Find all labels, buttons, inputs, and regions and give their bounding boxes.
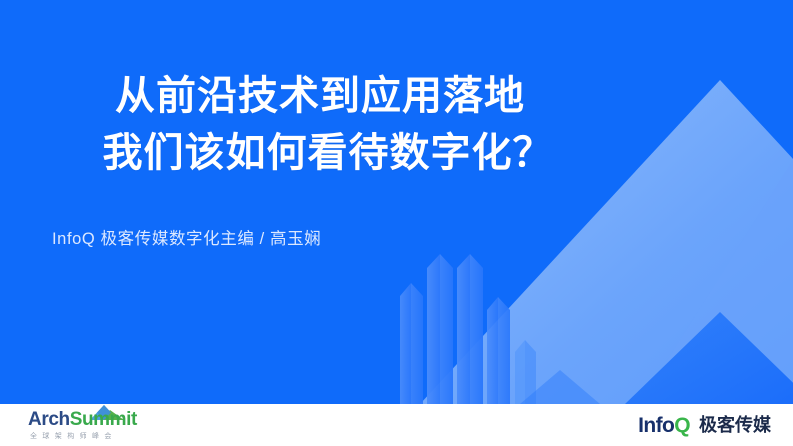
skyline-column — [400, 283, 411, 404]
infoq-logo: InfoQ 极客传媒 — [638, 404, 771, 446]
presentation-slide: 从前沿技术到应用落地 我们该如何看待数字化？ InfoQ 极客传媒数字化主编 /… — [0, 0, 793, 446]
skyline-column — [498, 297, 510, 404]
slide-subtitle: InfoQ 极客传媒数字化主编 / 高玉娴 — [52, 225, 321, 249]
infoq-info-text: Info — [638, 414, 674, 437]
title-line-1: 从前沿技术到应用落地 — [115, 74, 525, 118]
archsummit-arch-text: Arch — [28, 409, 70, 430]
infoq-q-text: Q — [674, 414, 690, 437]
archsummit-summit-text: Summit — [70, 409, 137, 430]
skyline-column — [470, 254, 483, 404]
infoq-wordmark: InfoQ — [638, 415, 690, 436]
infoq-chinese-name: 极客传媒 — [699, 416, 771, 434]
skyline-column — [440, 254, 453, 404]
slide-title: 从前沿技术到应用落地 我们该如何看待数字化？ — [0, 68, 640, 182]
skyline-column — [427, 254, 440, 404]
skyline-column — [457, 254, 470, 404]
archsummit-logo: ArchSummit 全球架构师峰会 — [28, 404, 198, 446]
archsummit-tagline: 全球架构师峰会 — [30, 431, 117, 441]
title-line-2: 我们该如何看待数字化？ — [0, 125, 640, 182]
skyline-column — [411, 283, 423, 404]
background-artwork — [0, 0, 793, 404]
archsummit-wordmark: ArchSummit — [28, 410, 137, 429]
slide-stage: 从前沿技术到应用落地 我们该如何看待数字化？ InfoQ 极客传媒数字化主编 /… — [0, 0, 793, 404]
skyline-column — [487, 297, 498, 404]
